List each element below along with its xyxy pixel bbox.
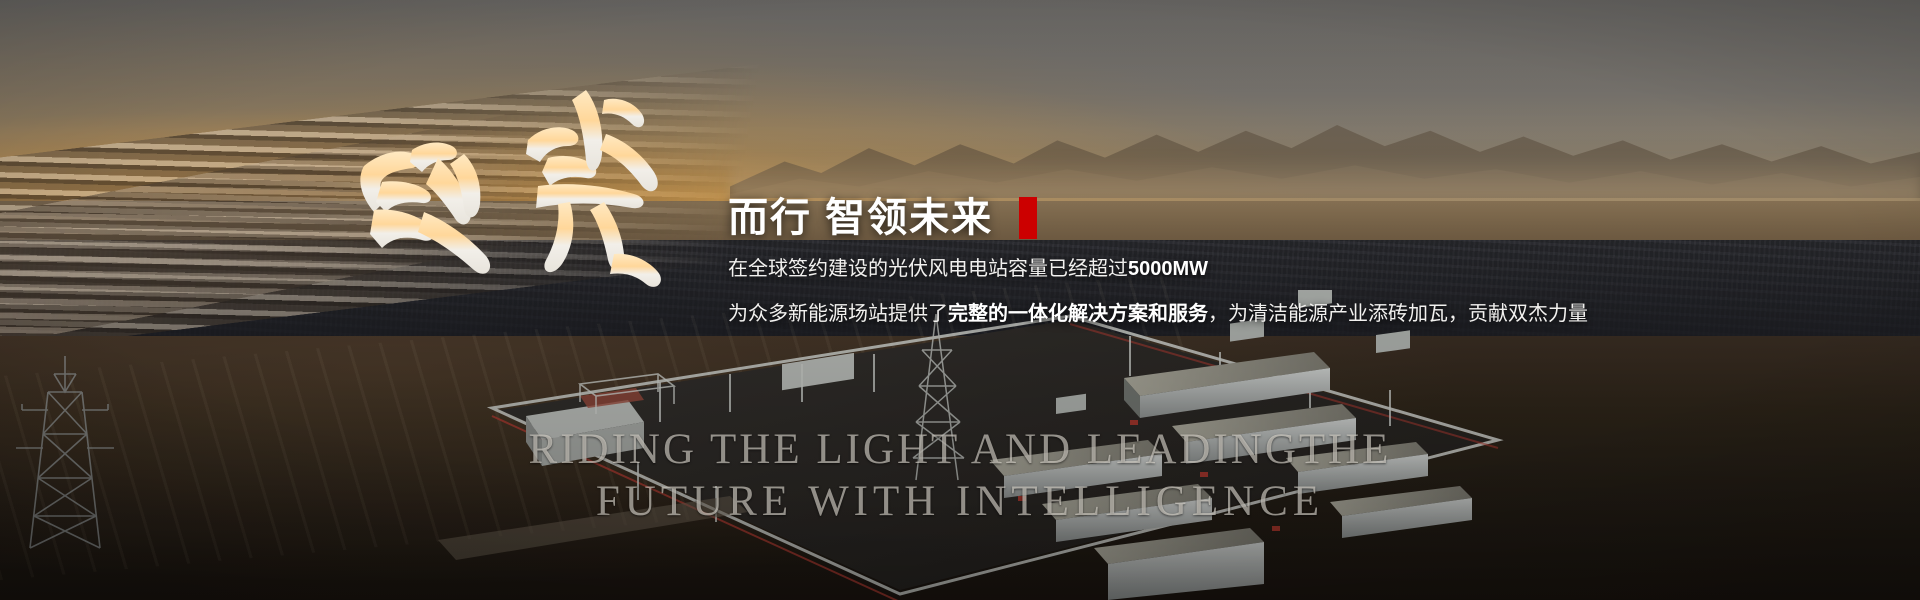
transmission-tower-icon: [10, 352, 120, 552]
subtitle-2-suffix: ，为清洁能源产业添砖加瓦，贡献双杰力量: [1208, 303, 1588, 325]
subtitle-1-strong: 5000MW: [1128, 258, 1208, 280]
subtitle-line-1: 在全球签约建设的光伏风电电站容量已经超过5000MW: [728, 254, 1668, 285]
red-accent-block: [1019, 197, 1037, 239]
headline: 而行 智领未来: [728, 196, 1668, 240]
headline-text: 而行 智领未来: [728, 196, 993, 240]
subtitle-2-prefix: 为众多新能源场站提供了: [728, 303, 948, 325]
hero-banner: 而行 智领未来 在全球签约建设的光伏风电电站容量已经超过5000MW 为众多新能…: [0, 0, 1920, 600]
subtitle-2-strong: 完整的一体化解决方案和服务: [948, 303, 1208, 325]
hero-copy: 而行 智领未来 在全球签约建设的光伏风电电站容量已经超过5000MW 为众多新能…: [728, 196, 1668, 330]
subtitle-1-prefix: 在全球签约建设的光伏风电电站容量已经超过: [728, 258, 1128, 280]
subtitle-line-2: 为众多新能源场站提供了完整的一体化解决方案和服务，为清洁能源产业添砖加瓦，贡献双…: [728, 299, 1668, 330]
substation-compound: [430, 290, 1510, 600]
